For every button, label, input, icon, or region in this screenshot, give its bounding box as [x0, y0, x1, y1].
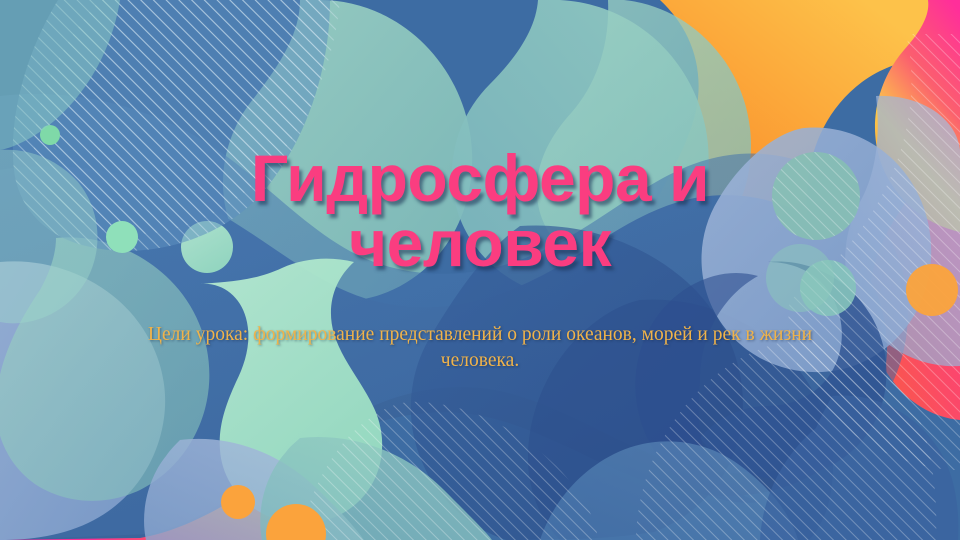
title-block: Гидросфера и человек [0, 146, 960, 275]
subtitle-block: Цели урока: формирование представлений о… [120, 322, 840, 375]
slide-title: Гидросфера и человек [0, 146, 960, 275]
slide-subtitle: Цели урока: формирование представлений о… [120, 322, 840, 375]
presentation-slide: Гидросфера и человек Цели урока: формиро… [0, 0, 960, 540]
